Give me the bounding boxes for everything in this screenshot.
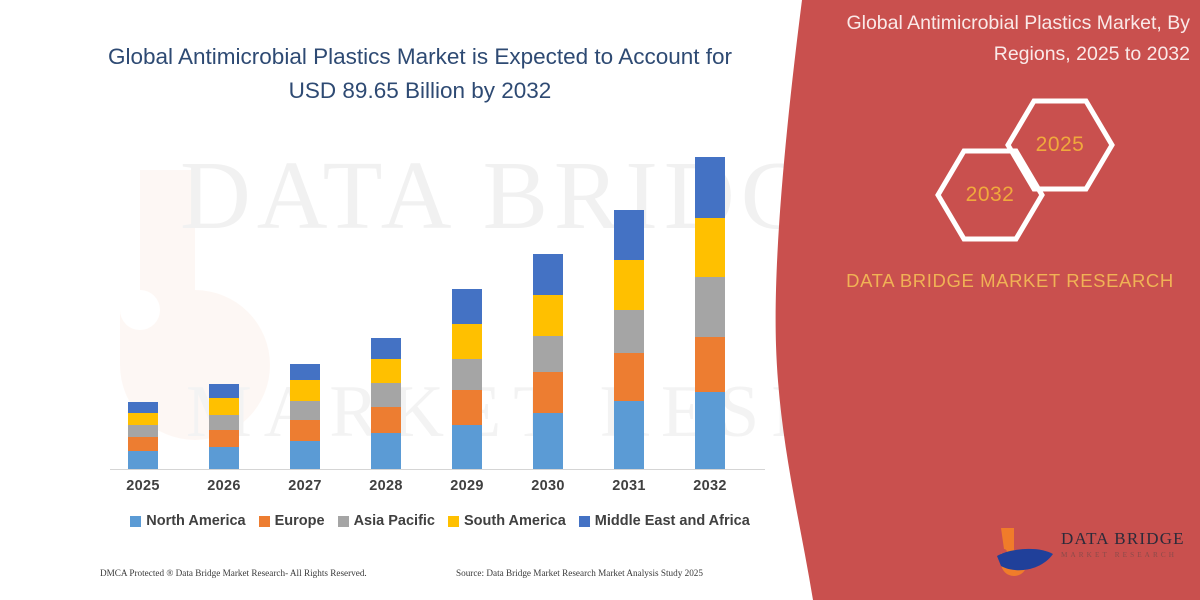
bar-segment-2028-south-america [371, 359, 401, 383]
bar-segment-2027-middle-east-and-africa [290, 364, 320, 380]
legend-item-asia-pacific[interactable]: Asia Pacific [338, 513, 435, 529]
company-logo: DATA BRIDGE MARKET RESEARCH [995, 520, 1195, 584]
bar-segment-2031-asia-pacific [614, 310, 644, 353]
legend-label: North America [146, 513, 245, 529]
bar-segment-2028-europe [371, 407, 401, 433]
legend-label: Europe [275, 513, 325, 529]
bar-segment-2025-europe [128, 437, 158, 451]
bar-segment-2027-south-america [290, 380, 320, 401]
hexagon-badge-2025: 2025 [1005, 95, 1115, 195]
logo-name-text: DATA BRIDGE [1061, 529, 1193, 549]
bar-segment-2025-asia-pacific [128, 425, 158, 437]
x-axis-label-2030: 2030 [513, 478, 583, 494]
bar-segment-2027-north-america [290, 441, 320, 469]
stacked-bar-chart [110, 140, 770, 470]
legend-swatch-icon [130, 516, 141, 527]
x-axis-label-2027: 2027 [270, 478, 340, 494]
bar-segment-2030-middle-east-and-africa [533, 254, 563, 295]
bar-segment-2030-north-america [533, 413, 563, 469]
bar-segment-2026-europe [209, 430, 239, 447]
x-axis-line [110, 469, 765, 470]
x-axis-label-2032: 2032 [675, 478, 745, 494]
bar-segment-2027-asia-pacific [290, 401, 320, 420]
x-axis-label-2028: 2028 [351, 478, 421, 494]
bar-segment-2028-asia-pacific [371, 383, 401, 407]
right-panel: Global Antimicrobial Plastics Market, By… [820, 0, 1200, 600]
bar-2030 [533, 254, 563, 469]
bar-segment-2025-south-america [128, 413, 158, 425]
legend-item-south-america[interactable]: South America [448, 513, 566, 529]
x-axis-label-2025: 2025 [108, 478, 178, 494]
footer-source-text: Source: Data Bridge Market Research Mark… [456, 568, 703, 578]
footer: DMCA Protected ® Data Bridge Market Rese… [0, 568, 790, 588]
legend-item-middle-east-and-africa[interactable]: Middle East and Africa [579, 513, 750, 529]
bar-segment-2029-europe [452, 390, 482, 425]
bar-segment-2030-europe [533, 372, 563, 413]
bar-2025 [128, 402, 158, 469]
bar-segment-2026-north-america [209, 447, 239, 469]
hexagon-label-2032: 2032 [966, 183, 1015, 207]
bar-segment-2029-asia-pacific [452, 359, 482, 390]
bar-segment-2032-south-america [695, 218, 725, 277]
legend-swatch-icon [579, 516, 590, 527]
bar-2026 [209, 384, 239, 469]
legend-swatch-icon [259, 516, 270, 527]
x-axis-label-2029: 2029 [432, 478, 502, 494]
right-panel-title: Global Antimicrobial Plastics Market, By… [830, 8, 1190, 70]
bar-segment-2029-south-america [452, 324, 482, 359]
bar-segment-2032-middle-east-and-africa [695, 157, 725, 218]
footer-dmca-text: DMCA Protected ® Data Bridge Market Rese… [100, 568, 367, 578]
legend-item-europe[interactable]: Europe [259, 513, 325, 529]
bar-segment-2032-europe [695, 337, 725, 392]
legend-swatch-icon [338, 516, 349, 527]
x-axis-labels: 20252026202720282029203020312032 [110, 478, 770, 502]
bar-segment-2029-middle-east-and-africa [452, 289, 482, 324]
legend-swatch-icon [448, 516, 459, 527]
hexagon-label-2025: 2025 [1036, 133, 1085, 157]
bar-2031 [614, 210, 644, 469]
bar-segment-2025-middle-east-and-africa [128, 402, 158, 413]
bar-segment-2030-south-america [533, 295, 563, 336]
x-axis-label-2026: 2026 [189, 478, 259, 494]
bar-segment-2032-north-america [695, 392, 725, 469]
bar-segment-2028-north-america [371, 433, 401, 469]
bar-segment-2028-middle-east-and-africa [371, 338, 401, 359]
legend-item-north-america[interactable]: North America [130, 513, 245, 529]
page-title: Global Antimicrobial Plastics Market is … [90, 40, 750, 108]
bar-segment-2031-north-america [614, 401, 644, 469]
logo-sub-text: MARKET RESEARCH [1061, 551, 1193, 559]
legend-label: Middle East and Africa [595, 513, 750, 529]
databridge-logo-mark-icon [995, 524, 1057, 580]
bar-2032 [695, 157, 725, 469]
bar-segment-2029-north-america [452, 425, 482, 469]
bar-segment-2026-asia-pacific [209, 415, 239, 430]
chart-legend: North AmericaEuropeAsia PacificSouth Ame… [110, 513, 770, 529]
legend-label: South America [464, 513, 566, 529]
bar-2028 [371, 338, 401, 469]
bar-2027 [290, 364, 320, 469]
bar-segment-2031-south-america [614, 260, 644, 310]
bar-segment-2032-asia-pacific [695, 277, 725, 337]
bar-segment-2027-europe [290, 420, 320, 441]
bar-segment-2026-south-america [209, 398, 239, 415]
brand-name: DATA BRIDGE MARKET RESEARCH [840, 265, 1180, 297]
bar-segment-2030-asia-pacific [533, 336, 563, 372]
bar-segment-2025-north-america [128, 451, 158, 469]
legend-label: Asia Pacific [354, 513, 435, 529]
x-axis-label-2031: 2031 [594, 478, 664, 494]
bar-2029 [452, 289, 482, 469]
bar-segment-2031-europe [614, 353, 644, 401]
bar-segment-2031-middle-east-and-africa [614, 210, 644, 260]
bar-segment-2026-middle-east-and-africa [209, 384, 239, 398]
logo-wordmark: DATA BRIDGE MARKET RESEARCH [1061, 529, 1193, 559]
